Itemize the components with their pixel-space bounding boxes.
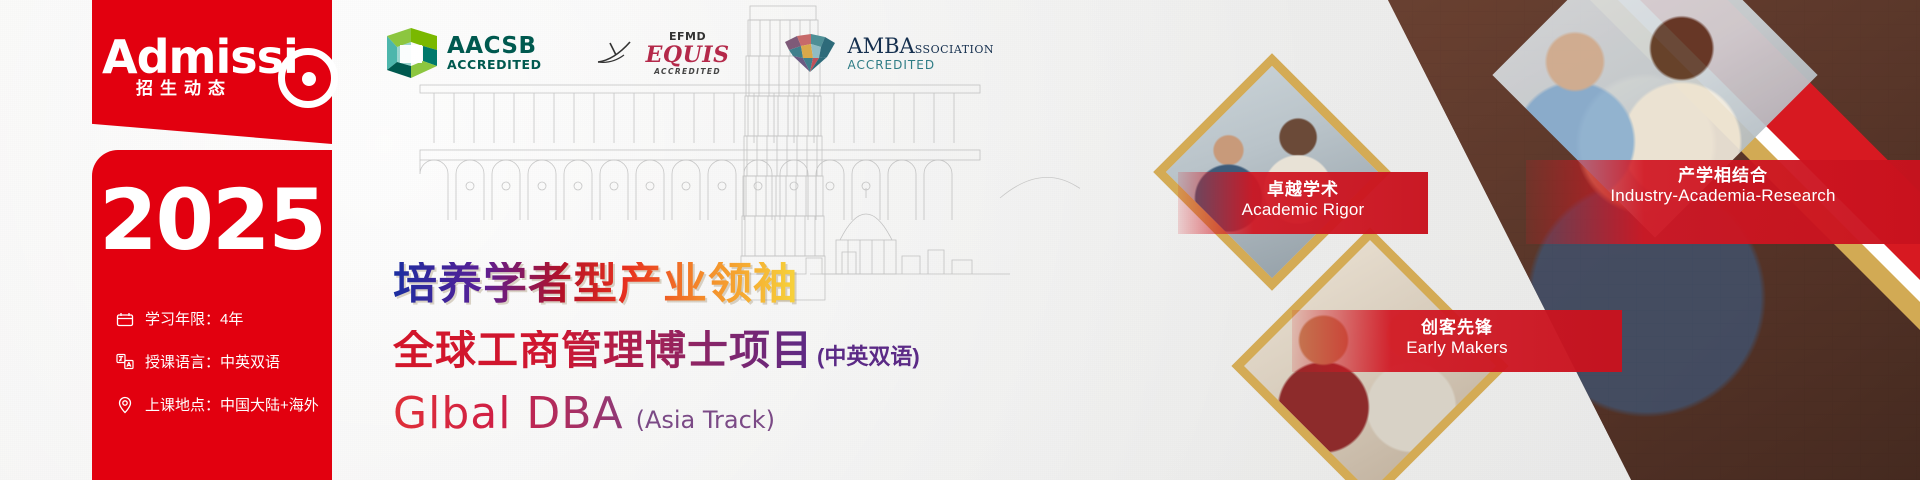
aacsb-mark-icon — [385, 26, 439, 80]
program-en-headline: Glbal DBA (Asia Track) — [393, 392, 775, 436]
aacsb-subtitle: ACCREDITED — [447, 59, 542, 72]
at-symbol-icon — [278, 48, 338, 108]
badge-industry: 产学相结合 Industry-Academia-Research — [1526, 166, 1920, 206]
badge-en: Academic Rigor — [1178, 200, 1428, 220]
equis-logo: EFMD EQUIS ACCREDITED — [594, 31, 730, 76]
calendar-icon — [114, 309, 136, 329]
equis-swoosh-icon — [594, 38, 638, 68]
badge-cn: 卓越学术 — [1178, 180, 1428, 200]
amba-title-prefix: SSOCIATION — [915, 43, 994, 56]
badge-en: Industry-Academia-Research — [1526, 186, 1920, 206]
program-en-main: Glbal DBA — [393, 392, 624, 436]
location-pin-icon — [114, 395, 136, 415]
year-label: 2025 — [92, 178, 332, 262]
badge-cn: 产学相结合 — [1526, 166, 1920, 186]
program-cn-main: 全球工商管理博士项目 — [393, 330, 813, 371]
admission-cn-text: 招生动态 — [136, 74, 232, 99]
equis-title: EQUIS — [646, 44, 730, 66]
tagline-headline: 培养学者型产业领袖 — [393, 262, 798, 306]
badge-makers: 创客先锋 Early Makers — [1292, 318, 1622, 358]
photo-collage: 卓越学术 Academic Rigor 产学相结合 Industry-Acade… — [1120, 0, 1920, 480]
left-red-panel: Admissi 招生动态 2025 学习年限：4年 — [92, 0, 332, 480]
amba-diamond-icon — [781, 30, 839, 76]
admission-banner: Admissi 招生动态 2025 学习年限：4年 — [0, 0, 1920, 480]
accreditation-logos: AACSB ACCREDITED EFMD EQUIS ACCREDITED — [385, 26, 994, 80]
badge-cn: 创客先锋 — [1292, 318, 1622, 338]
program-cn-headline: 全球工商管理博士项目 (中英双语) — [393, 330, 920, 371]
aacsb-title: AACSB — [447, 35, 542, 58]
aacsb-logo: AACSB ACCREDITED — [385, 26, 542, 80]
equis-subtitle: ACCREDITED — [646, 68, 730, 76]
amba-subtitle: ACCREDITED — [847, 59, 994, 71]
program-cn-suffix: (中英双语) — [817, 346, 920, 371]
info-text: 学习年限：4年 — [145, 308, 243, 329]
info-text: 授课语言：中英双语 — [145, 351, 280, 372]
badge-academic: 卓越学术 Academic Rigor — [1178, 180, 1428, 220]
info-text: 上课地点：中国大陆+海外 — [145, 394, 319, 415]
program-en-suffix: (Asia Track) — [636, 408, 775, 436]
amba-title: AMBASSOCIATION — [847, 36, 994, 57]
admission-logo: Admissi 招生动态 — [96, 34, 346, 114]
amba-title-main: AMBA — [847, 34, 914, 58]
language-icon — [114, 352, 136, 372]
efmd-label: EFMD — [646, 31, 730, 42]
amba-logo: AMBASSOCIATION ACCREDITED — [781, 30, 994, 76]
info-row-duration: 学习年限：4年 — [114, 308, 444, 329]
badge-en: Early Makers — [1292, 338, 1622, 358]
